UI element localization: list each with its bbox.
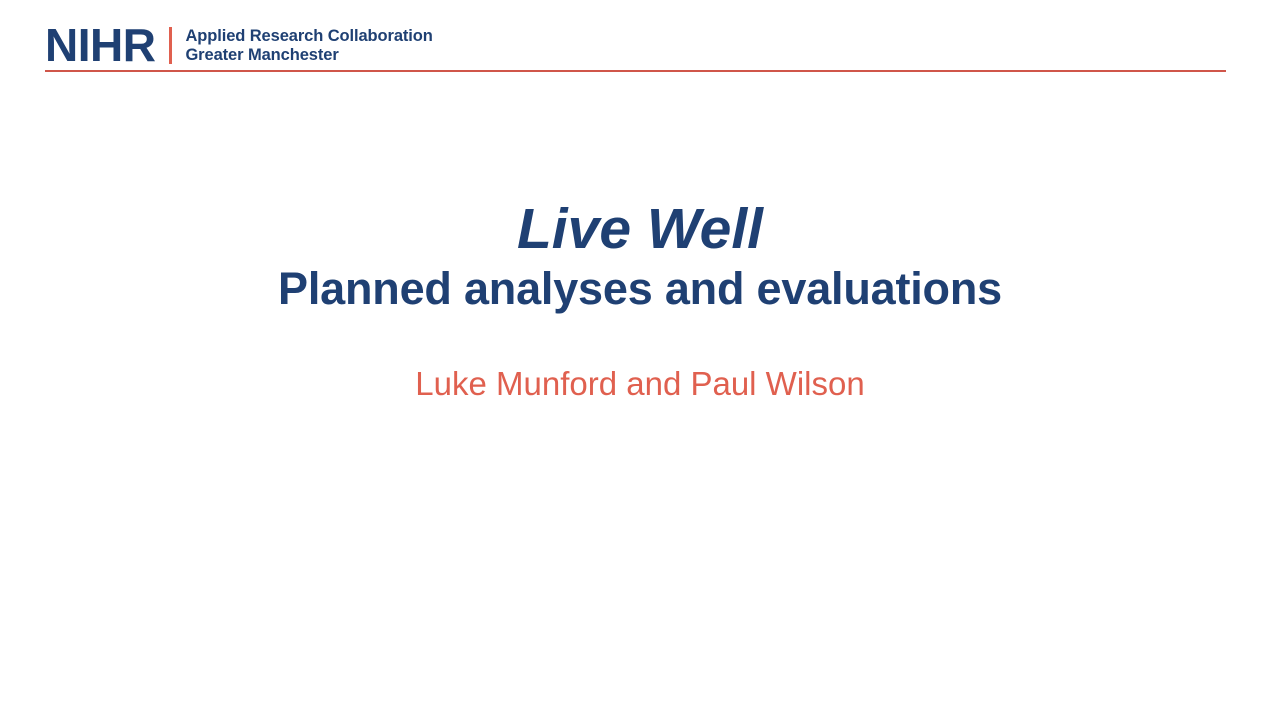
nihr-wordmark: NIHR (45, 25, 155, 65)
logo-tagline: Applied Research Collaboration Greater M… (185, 27, 432, 65)
title-block: Live Well Planned analyses and evaluatio… (0, 196, 1280, 404)
nihr-logo: NIHR Applied Research Collaboration Grea… (45, 24, 1226, 68)
header-divider-rule (45, 70, 1226, 72)
slide-authors: Luke Munford and Paul Wilson (0, 316, 1280, 404)
logo-tagline-line2: Greater Manchester (185, 46, 338, 64)
slide-title: Live Well (0, 196, 1280, 262)
logo-tagline-line1: Applied Research Collaboration (185, 27, 432, 45)
presentation-slide: NIHR Applied Research Collaboration Grea… (0, 0, 1280, 720)
logo-divider-bar (169, 27, 172, 64)
slide-subtitle: Planned analyses and evaluations (0, 262, 1280, 316)
brand-header: NIHR Applied Research Collaboration Grea… (45, 24, 1226, 74)
